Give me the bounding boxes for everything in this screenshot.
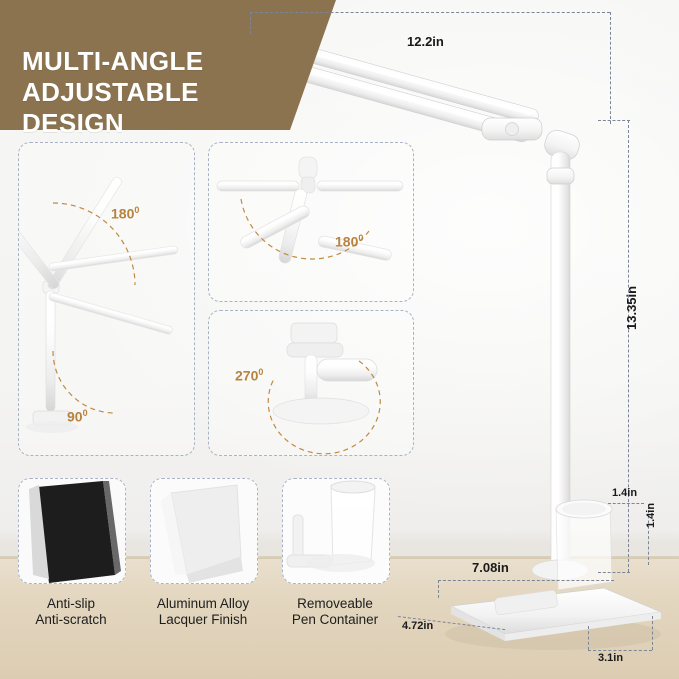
- dimension-label-base-depth: 4.72in: [402, 620, 433, 632]
- angle-label-90-vertical: 900: [67, 408, 88, 425]
- aluminum-finish-image: [151, 479, 257, 583]
- panel-head-rotation: 1800: [208, 142, 414, 302]
- dimension-tick-arm-left: [250, 12, 251, 34]
- dimension-label-pen-diameter: 1.4in: [645, 503, 657, 528]
- feature-caption-aluminum: Aluminum Alloy Lacquer Finish: [141, 596, 265, 628]
- feature-caption-anti-slip: Anti-slip Anti-scratch: [9, 596, 133, 628]
- feature-thumb-aluminum-finish: [150, 478, 258, 584]
- dimension-tick-pen-top: [608, 503, 644, 504]
- head-rotation-illustration: [209, 143, 413, 301]
- pen-container-image: [283, 479, 389, 583]
- feature-thumb-pen-container: [282, 478, 390, 584]
- dimension-label-pen-height: 1.4in: [612, 487, 637, 499]
- dimension-tick-base-width-left: [438, 580, 439, 598]
- angle-label-270-joint: 2700: [235, 367, 263, 384]
- page-title: MULTI-ANGLE ADJUSTABLE DESIGN: [22, 46, 290, 139]
- dimension-label-arm: 12.2in: [407, 34, 444, 49]
- anti-slip-pad-image: [19, 479, 125, 583]
- dimension-line-base-front: [588, 650, 652, 651]
- panel-vertical-rotation: 1800 900: [18, 142, 195, 456]
- angle-label-180-vertical: 1800: [111, 205, 139, 222]
- product-infographic: MULTI-ANGLE ADJUSTABLE DESIGN 1800 900: [0, 0, 679, 679]
- dimension-tick-base-front-right: [652, 616, 653, 650]
- dimension-line-height: [628, 120, 629, 572]
- dimension-label-base-front: 3.1in: [598, 652, 623, 664]
- dimension-label-height: 13.35in: [624, 286, 639, 330]
- vertical-rotation-illustration: [19, 143, 194, 455]
- dimension-line-base-width: [438, 580, 614, 581]
- dimension-tick-base-front-left: [588, 626, 589, 650]
- dimension-tick-height-bottom: [598, 572, 630, 573]
- feature-caption-pen-container: Removeable Pen Container: [273, 596, 397, 628]
- panel-joint-rotation: 2700: [208, 310, 414, 456]
- angle-label-180-head: 1800: [335, 233, 363, 250]
- dimension-tick-height-top: [598, 120, 630, 121]
- feature-thumb-anti-slip: [18, 478, 126, 584]
- dimension-label-base-width: 7.08in: [472, 560, 509, 575]
- dimension-tick-arm-right: [610, 12, 611, 124]
- dimension-line-arm: [250, 12, 610, 13]
- headline-banner: MULTI-ANGLE ADJUSTABLE DESIGN: [0, 0, 290, 130]
